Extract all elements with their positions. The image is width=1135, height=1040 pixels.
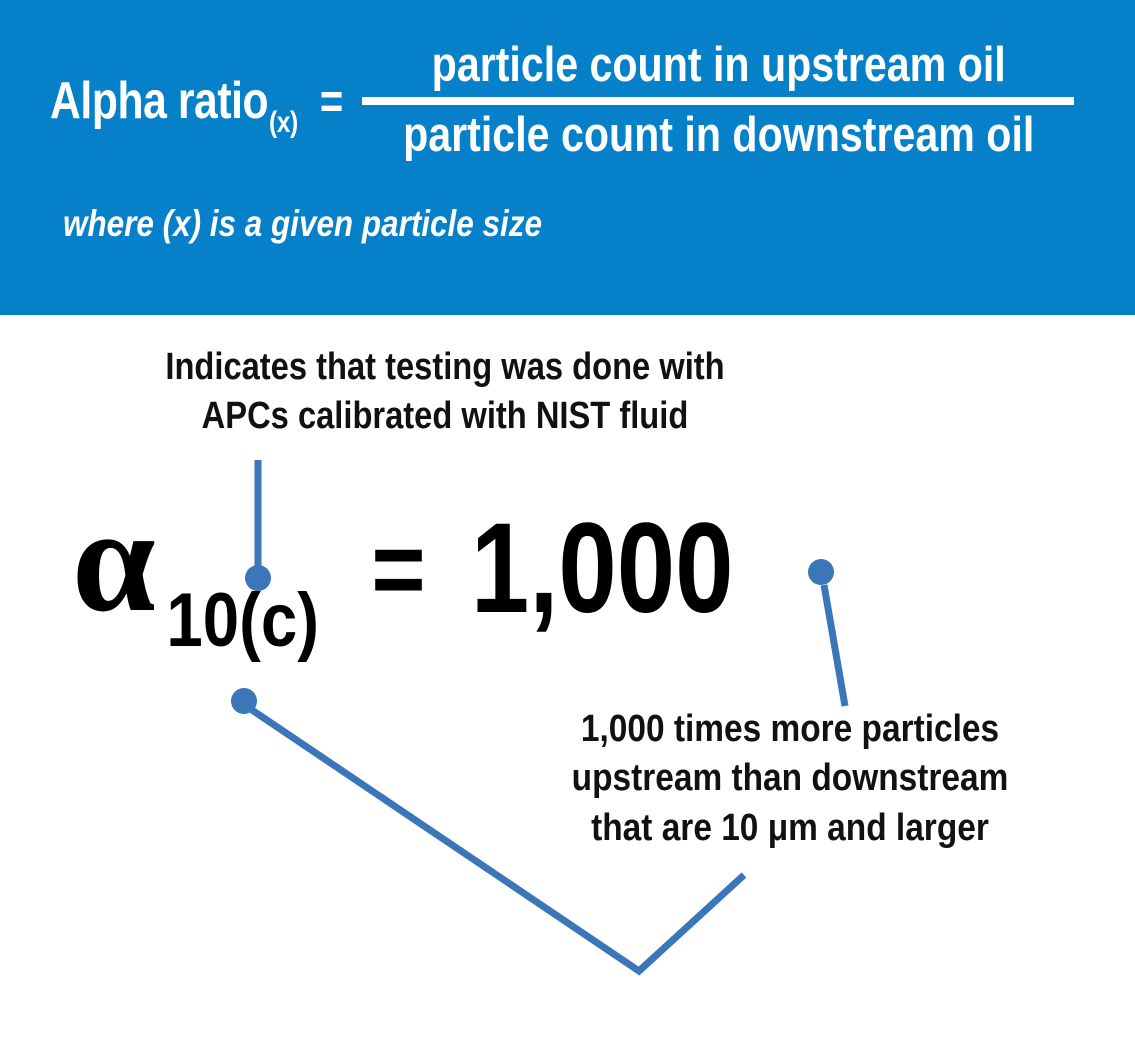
alpha-expression-equals: = <box>372 526 426 612</box>
fraction-denominator: particle count in downstream oil <box>403 110 1034 162</box>
formula-equals-sign: = <box>320 76 343 126</box>
alpha-expression-subscript: 10(c) <box>166 591 319 652</box>
alpha-ratio-label: Alpha ratio <box>50 75 268 127</box>
formula-fraction: particle count in upstream oil particle … <box>362 40 1074 162</box>
alpha-ratio-subscript: (x) <box>269 108 298 138</box>
banner-section: Alpha ratio(x) = particle count in upstr… <box>0 0 1135 315</box>
alpha-symbol: α <box>72 500 156 620</box>
fraction-bar <box>362 97 1074 105</box>
formula-left-side: Alpha ratio(x) <box>50 75 297 127</box>
alpha-expression-value: 1,000 <box>471 518 734 620</box>
alpha-ratio-formula: Alpha ratio(x) = particle count in upstr… <box>50 40 1074 162</box>
particle-ratio-note: 1,000 times more particles upstream than… <box>517 705 1063 853</box>
fraction-numerator: particle count in upstream oil <box>431 40 1005 92</box>
nist-calibration-note: Indicates that testing was done with APC… <box>101 343 789 440</box>
explanation-section: Indicates that testing was done with APC… <box>0 315 1135 1040</box>
nist-calibration-note-line2: APCs calibrated with NIST fluid <box>101 392 789 441</box>
particle-ratio-note-line3: that are 10 μm and larger <box>517 804 1063 853</box>
nist-calibration-note-line1: Indicates that testing was done with <box>101 343 789 392</box>
particle-ratio-note-line1: 1,000 times more particles <box>517 705 1063 754</box>
banner-note: where (x) is a given particle size <box>63 205 542 242</box>
infographic-canvas: Alpha ratio(x) = particle count in upstr… <box>0 0 1135 1040</box>
particle-ratio-note-line2: upstream than downstream <box>517 754 1063 803</box>
alpha-expression: α10(c) = 1,000 <box>72 500 763 620</box>
